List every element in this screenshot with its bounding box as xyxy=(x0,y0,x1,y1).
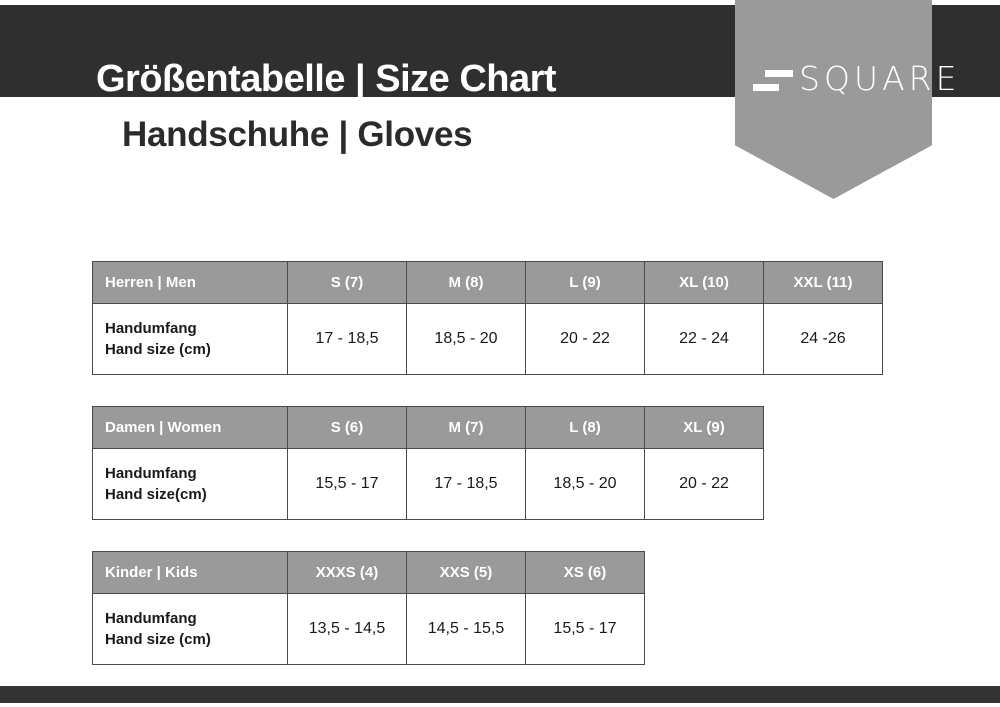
size-header: XXS (5) xyxy=(407,552,526,594)
table-row-header: Kinder | Kids XXXS (4) XXS (5) XS (6) xyxy=(93,552,645,594)
measure-label-en: Hand size (cm) xyxy=(105,341,211,358)
size-header: M (7) xyxy=(407,407,526,449)
measure-value: 17 - 18,5 xyxy=(407,449,526,520)
category-header: Kinder | Kids xyxy=(93,552,288,594)
measure-label-en: Hand size (cm) xyxy=(105,631,211,648)
page-subtitle: Handschuhe | Gloves xyxy=(122,115,472,155)
measure-value: 20 - 22 xyxy=(526,304,645,375)
size-header: S (7) xyxy=(288,262,407,304)
size-header: XS (6) xyxy=(526,552,645,594)
measure-label-de: Handumfang xyxy=(105,465,197,482)
footer-band xyxy=(0,686,1000,703)
measure-value: 22 - 24 xyxy=(645,304,764,375)
size-header: XXXS (4) xyxy=(288,552,407,594)
measure-value: 17 - 18,5 xyxy=(288,304,407,375)
table-row: Handumfang Hand size(cm) 15,5 - 17 17 - … xyxy=(93,449,764,520)
size-header: L (9) xyxy=(526,262,645,304)
table-row: Handumfang Hand size (cm) 13,5 - 14,5 14… xyxy=(93,594,645,665)
measure-value: 18,5 - 20 xyxy=(407,304,526,375)
size-header: XL (9) xyxy=(645,407,764,449)
table-row: Handumfang Hand size (cm) 17 - 18,5 18,5… xyxy=(93,304,883,375)
page-title: Größentabelle | Size Chart xyxy=(96,58,556,101)
measure-label: Handumfang Hand size(cm) xyxy=(93,449,288,520)
measure-label-de: Handumfang xyxy=(105,610,197,627)
category-header: Damen | Women xyxy=(93,407,288,449)
measure-value: 15,5 - 17 xyxy=(526,594,645,665)
logo-shield xyxy=(735,0,932,199)
measure-value: 24 -26 xyxy=(764,304,883,375)
category-header: Herren | Men xyxy=(93,262,288,304)
measure-value: 13,5 - 14,5 xyxy=(288,594,407,665)
size-header: M (8) xyxy=(407,262,526,304)
measure-label-de: Handumfang xyxy=(105,320,197,337)
size-header: L (8) xyxy=(526,407,645,449)
measure-value: 18,5 - 20 xyxy=(526,449,645,520)
table-row-header: Herren | Men S (7) M (8) L (9) XL (10) X… xyxy=(93,262,883,304)
size-table-men: Herren | Men S (7) M (8) L (9) XL (10) X… xyxy=(92,261,883,375)
size-header: S (6) xyxy=(288,407,407,449)
size-chart-page: SQUARE Größentabelle | Size Chart Handsc… xyxy=(0,0,1000,707)
size-header: XXL (11) xyxy=(764,262,883,304)
size-header: XL (10) xyxy=(645,262,764,304)
measure-label-en: Hand size(cm) xyxy=(105,486,207,503)
measure-label: Handumfang Hand size (cm) xyxy=(93,304,288,375)
measure-value: 20 - 22 xyxy=(645,449,764,520)
measure-value: 14,5 - 15,5 xyxy=(407,594,526,665)
size-table-kids: Kinder | Kids XXXS (4) XXS (5) XS (6) Ha… xyxy=(92,551,645,665)
measure-value: 15,5 - 17 xyxy=(288,449,407,520)
table-row-header: Damen | Women S (6) M (7) L (8) XL (9) xyxy=(93,407,764,449)
size-table-women: Damen | Women S (6) M (7) L (8) XL (9) H… xyxy=(92,406,764,520)
measure-label: Handumfang Hand size (cm) xyxy=(93,594,288,665)
